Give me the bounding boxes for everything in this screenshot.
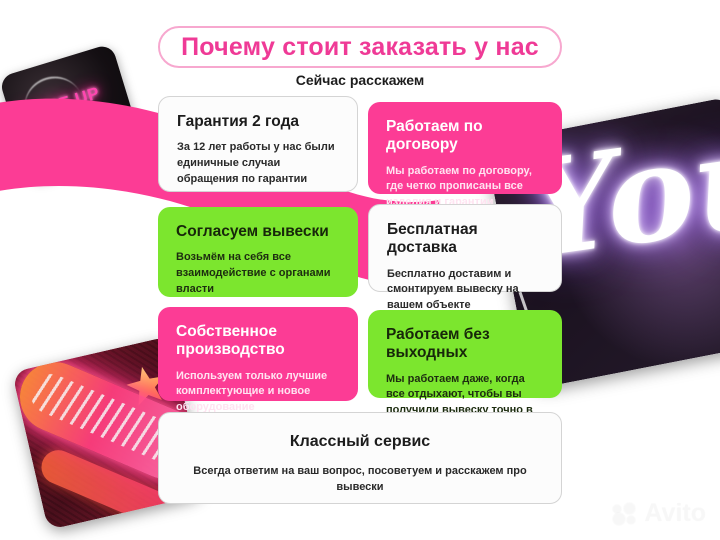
card-body: Возьмём на себя все взаимодействие с орг… (176, 250, 340, 297)
card-heading: Классный сервис (177, 433, 543, 452)
feature-card-weekends: Работаем без выходных Мы работаем даже, … (368, 310, 562, 398)
feature-card-production: Собственное производство Используем толь… (158, 307, 358, 401)
feature-card-delivery: Бесплатная доставка Бесплатно доставим и… (368, 204, 562, 292)
card-body: За 12 лет работы у нас были единичные сл… (177, 140, 339, 187)
avito-watermark: Avito (613, 501, 706, 526)
card-heading: Бесплатная доставка (387, 221, 543, 258)
card-heading: Гарантия 2 года (177, 113, 339, 131)
card-heading: Работаем без выходных (386, 326, 544, 363)
content-layer: Почему стоит заказать у нас Сейчас расск… (0, 0, 720, 540)
avito-watermark-text: Avito (644, 501, 706, 526)
card-body: Используем только лучшие комплектующие и… (176, 369, 340, 416)
card-heading: Собственное производство (176, 323, 340, 360)
feature-card-service: Классный сервис Всегда ответим на ваш во… (158, 412, 562, 504)
poster-canvas: MAKE UP BROW You Почему стоит заказать у… (0, 0, 720, 540)
card-heading: Работаем по договору (386, 118, 544, 155)
feature-card-guarantee: Гарантия 2 года За 12 лет работы у нас б… (158, 96, 358, 192)
card-body: Бесплатно доставим и смонтируем вывеску … (387, 267, 543, 314)
page-title-pill: Почему стоит заказать у нас (158, 26, 562, 68)
page-title: Почему стоит заказать у нас (181, 35, 539, 60)
card-body: Всегда ответим на ваш вопрос, посоветуем… (177, 463, 543, 496)
card-heading: Согласуем вывески (176, 223, 340, 241)
avito-logo-icon (613, 503, 639, 525)
page-subtitle: Сейчас расскажем (158, 72, 562, 88)
feature-card-contract: Работаем по договору Мы работаем по дого… (368, 102, 562, 194)
feature-card-approval: Согласуем вывески Возьмём на себя все вз… (158, 207, 358, 297)
